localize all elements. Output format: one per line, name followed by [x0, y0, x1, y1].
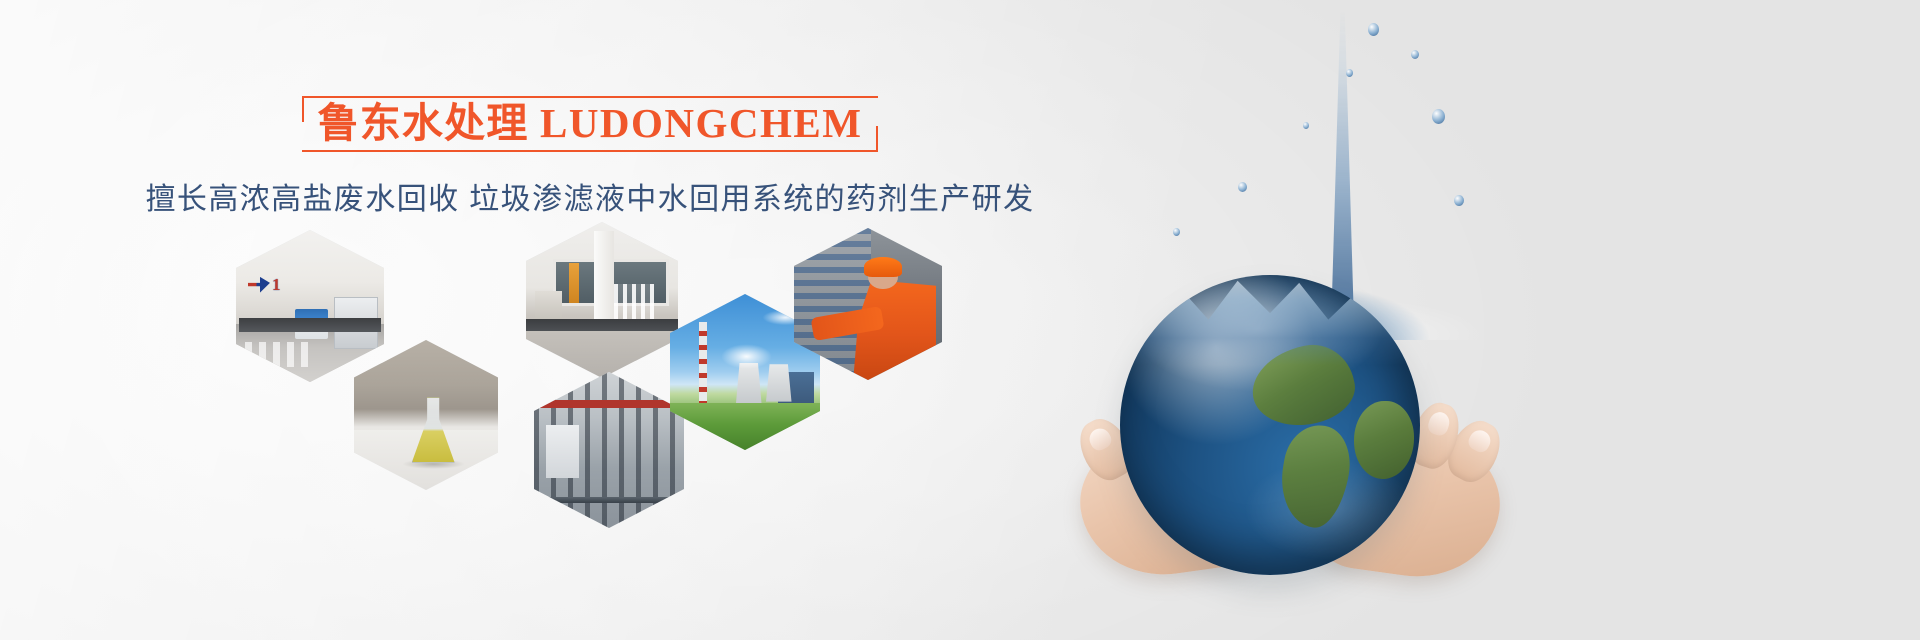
finger — [1404, 397, 1466, 473]
lab-side-cabinet — [535, 291, 562, 325]
finger — [1071, 411, 1141, 487]
landmass-africa — [1354, 401, 1414, 479]
lab-bottles — [245, 342, 313, 366]
steam-plume — [721, 344, 772, 369]
fingernail — [1385, 406, 1408, 430]
water-droplet — [1432, 109, 1445, 124]
hexagon-gallery: 1 — [236, 222, 956, 522]
brand-title: 鲁东水处理 LUDONGCHEM — [318, 101, 863, 145]
landmass-north-america — [1245, 337, 1361, 435]
conical-flask-icon — [412, 397, 455, 463]
water-droplet — [1173, 228, 1180, 236]
banner-subtitle: 擅长高浓高盐废水回收 垃圾渗滤液中水回用系统的药剂生产研发 — [0, 174, 1180, 218]
hexagon-photo-laboratory-bench — [526, 222, 678, 378]
water-droplet — [1238, 182, 1247, 192]
hexagon-photo-laboratory-room: 1 — [236, 230, 384, 382]
photo-laboratory-bench — [526, 222, 678, 378]
water-droplet — [1368, 23, 1379, 36]
fingernail — [1128, 408, 1154, 436]
photo-industrial-piping — [534, 372, 684, 528]
fingernail — [1086, 425, 1115, 454]
grass-field — [670, 403, 820, 450]
lab-pillar — [594, 231, 614, 328]
water-crown — [1137, 210, 1483, 340]
landmass-south-america — [1274, 420, 1357, 532]
ocean-highlight — [1120, 275, 1420, 575]
hero-banner: 鲁东水处理 LUDONGCHEM 擅长高浓高盐废水回收 垃圾渗滤液中水回用系统的… — [0, 0, 1920, 640]
right-hand — [1302, 413, 1509, 588]
water-droplet — [1411, 50, 1419, 59]
piping-panel — [546, 425, 579, 478]
bracket-left-tick — [302, 96, 304, 122]
bracket-bottom-rule — [302, 150, 879, 152]
brand-title-frame: 鲁东水处理 LUDONGCHEM — [292, 96, 889, 152]
left-hand — [1070, 411, 1279, 586]
water-droplet — [1346, 69, 1353, 77]
brand-title-cn: 鲁东水处理 — [318, 100, 529, 146]
fingernail — [1172, 404, 1195, 428]
fingernail — [1426, 410, 1452, 438]
wall-slogan-number: 1 — [272, 276, 281, 293]
water-droplet — [1454, 195, 1464, 206]
brand-title-en: LUDONGCHEM — [540, 100, 863, 146]
water-droplet — [1303, 122, 1309, 129]
hexagon-photo-conical-flask — [354, 340, 498, 490]
water-splash-graphic — [1130, 10, 1490, 340]
water-jet — [1332, 10, 1354, 310]
globe-in-hands — [1080, 275, 1500, 575]
photo-laboratory-room: 1 — [236, 230, 384, 382]
piping-rail — [534, 497, 684, 503]
bracket-right-tick — [876, 126, 878, 152]
finger — [1114, 395, 1176, 471]
fingernail — [1466, 426, 1495, 455]
finger — [1440, 413, 1510, 489]
lab-machine — [295, 309, 328, 339]
lab-stand — [569, 263, 580, 304]
wall-slogan-graphic: 1 — [248, 270, 313, 300]
headline-block: 鲁东水处理 LUDONGCHEM 擅长高浓高盐废水回收 垃圾渗滤液中水回用系统的… — [0, 96, 1180, 218]
smokestack — [699, 322, 707, 403]
finger — [1159, 394, 1211, 462]
lab-glassware — [614, 284, 654, 321]
earth-globe — [1120, 275, 1420, 575]
hexagon-photo-industrial-piping — [534, 372, 684, 528]
bracket-top-rule — [302, 96, 879, 98]
globe-water-surface — [1120, 275, 1420, 365]
cooling-tower-right — [766, 364, 792, 401]
arrow-icon — [248, 277, 270, 293]
safety-helmet-icon — [864, 257, 902, 277]
lab-cabinet — [334, 297, 378, 349]
photo-conical-flask — [354, 340, 498, 490]
finger — [1369, 396, 1421, 464]
